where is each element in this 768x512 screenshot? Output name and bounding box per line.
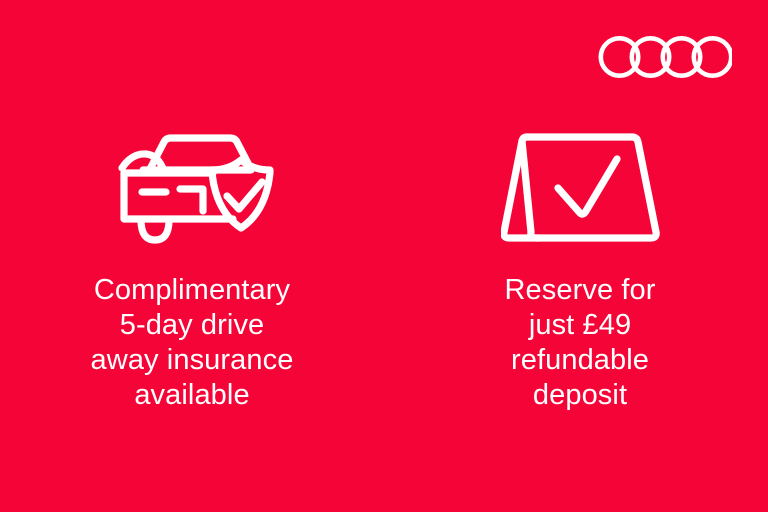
car-with-shield-check-icon [104,120,280,255]
promo-banner: Complimentary 5-day drive away insurance… [0,0,768,512]
audi-four-rings-logo [598,34,732,80]
tent-card-check-icon [491,120,661,255]
feature-insurance-text: Complimentary 5-day drive away insurance… [91,273,294,413]
feature-reserve-text: Reserve for just £49 refundable deposit [497,273,656,413]
feature-item-insurance: Complimentary 5-day drive away insurance… [0,120,384,413]
feature-list: Complimentary 5-day drive away insurance… [0,120,768,450]
feature-item-reserve: Reserve for just £49 refundable deposit [384,120,768,413]
